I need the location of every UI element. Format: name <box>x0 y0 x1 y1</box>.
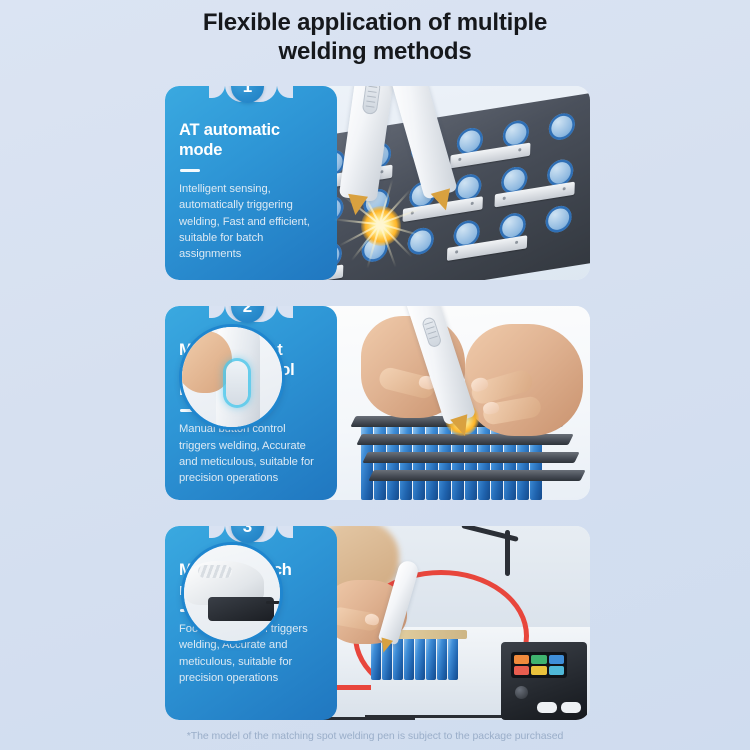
title-line-1: Flexible application of multiple <box>140 8 610 37</box>
card-1-heading: AT automatic mode <box>179 120 323 160</box>
welder-port-right <box>561 702 581 713</box>
card-1-body: Intelligent sensing, automatically trigg… <box>179 181 323 262</box>
spot-welder-unit <box>501 642 587 720</box>
footnote-disclaimer: *The model of the matching spot welding … <box>0 730 750 742</box>
welder-knob <box>515 686 528 699</box>
foot-pedal <box>208 597 274 621</box>
welder-port-left <box>537 702 557 713</box>
page-title: Flexible application of multiple welding… <box>0 8 750 67</box>
title-line-2: welding methods <box>140 37 610 66</box>
mode-card-3: MT foot switch mode Foot pedal control t… <box>165 526 590 720</box>
card-1-divider <box>180 169 200 172</box>
mode-card-1: AT automatic mode Intelligent sensing, a… <box>165 86 590 280</box>
welder-display <box>511 652 567 678</box>
mode-card-2: MT intelligent manual control mode Manua… <box>165 306 590 500</box>
foot-pedal-closeup-callout <box>181 542 283 644</box>
card-1-text-panel: AT automatic mode Intelligent sensing, a… <box>165 86 337 280</box>
card-2-body: Manual button control triggers welding, … <box>179 421 323 486</box>
thumb-closeup <box>179 331 232 393</box>
infographic-page: Flexible application of multiple welding… <box>0 0 750 750</box>
manual-button-closeup-callout <box>179 324 285 430</box>
manual-button-highlight <box>226 361 248 405</box>
